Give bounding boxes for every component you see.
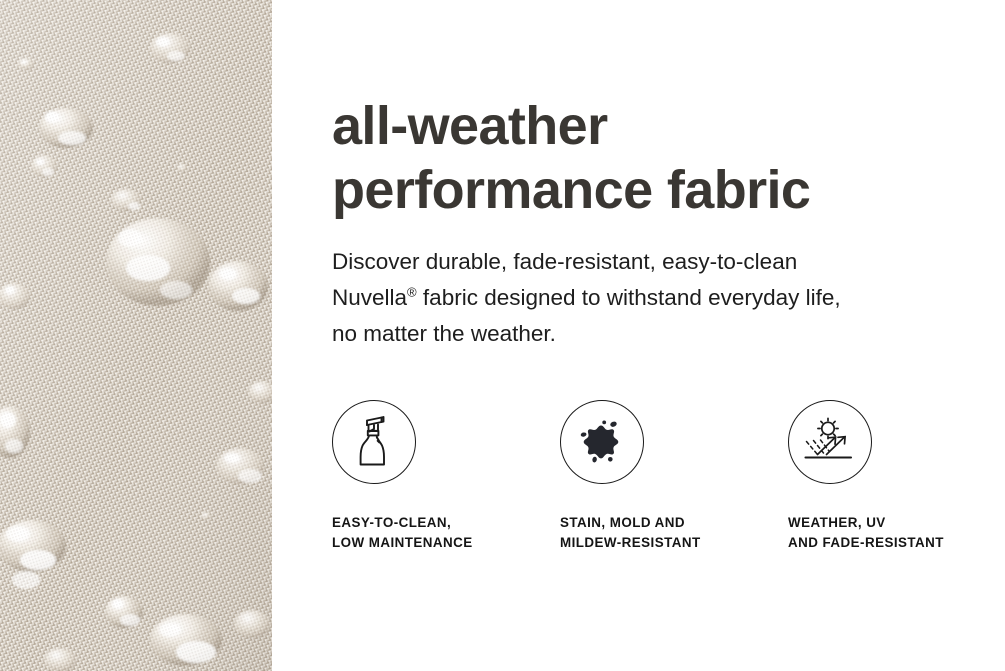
feature-item-easy-to-clean: EASY-TO-CLEAN, LOW MAINTENANCE (332, 400, 560, 553)
brand-name: Nuvella (332, 285, 407, 310)
sun-reflect-icon (801, 416, 859, 468)
subcopy-line-1: Discover durable, fade-resistant, easy-t… (332, 249, 797, 274)
content-panel: all-weather performance fabric Discover … (272, 0, 1005, 671)
subcopy-line-3: no matter the weather. (332, 321, 556, 346)
subcopy-paragraph: Discover durable, fade-resistant, easy-t… (332, 244, 952, 352)
feature-caption-weather-uv: WEATHER, UV AND FADE-RESISTANT (788, 513, 944, 553)
sun-reflect-badge (788, 400, 872, 484)
subcopy-line-2-rest: fabric designed to withstand everyday li… (417, 285, 841, 310)
page-title: all-weather performance fabric (332, 94, 972, 222)
feature-item-stain-resistant: STAIN, MOLD AND MILDEW-RESISTANT (560, 400, 788, 553)
feature-item-weather-uv: WEATHER, UV AND FADE-RESISTANT (788, 400, 1005, 553)
spray-bottle-badge (332, 400, 416, 484)
fabric-photo-panel (0, 0, 272, 671)
water-beading-fabric-photo (0, 0, 272, 671)
spray-bottle-icon (347, 414, 401, 470)
feature-caption-easy-to-clean: EASY-TO-CLEAN, LOW MAINTENANCE (332, 513, 473, 553)
registered-trademark-icon: ® (407, 285, 417, 300)
feature-row: EASY-TO-CLEAN, LOW MAINTENANCE (332, 400, 1005, 553)
feature-caption-stain-resistant: STAIN, MOLD AND MILDEW-RESISTANT (560, 513, 701, 553)
all-weather-fabric-banner: all-weather performance fabric Discover … (0, 0, 1005, 671)
stain-splatter-badge (560, 400, 644, 484)
stain-splatter-icon (574, 414, 630, 470)
